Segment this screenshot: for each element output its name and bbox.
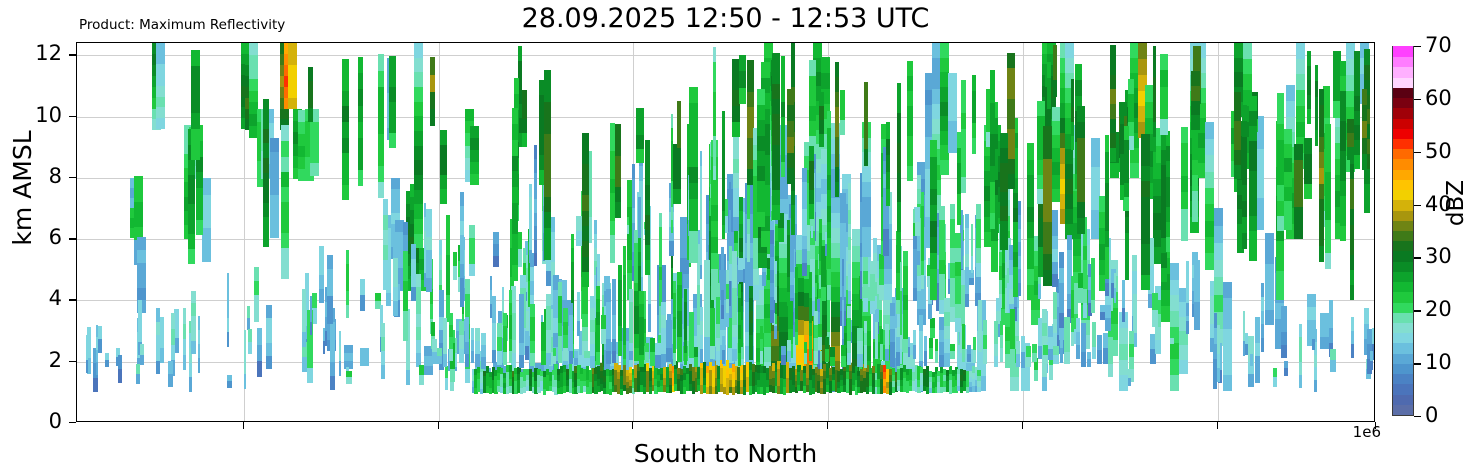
reflectivity-cell bbox=[733, 158, 739, 173]
reflectivity-cell bbox=[1210, 323, 1215, 337]
reflectivity-cell bbox=[1138, 58, 1147, 74]
reflectivity-cell bbox=[1315, 81, 1318, 97]
reflectivity-cell bbox=[582, 195, 589, 211]
reflectivity-column bbox=[86, 335, 88, 372]
reflectivity-cell bbox=[1325, 172, 1331, 189]
reflectivity-cell bbox=[460, 235, 464, 250]
reflectivity-cell bbox=[990, 70, 995, 86]
reflectivity-cell bbox=[907, 61, 913, 76]
reflectivity-cell bbox=[330, 362, 335, 376]
reflectivity-cell bbox=[1018, 228, 1021, 242]
reflectivity-cell bbox=[1166, 206, 1170, 222]
reflectivity-cell bbox=[700, 165, 702, 180]
y-tick-label: 2 bbox=[49, 350, 62, 371]
reflectivity-cell bbox=[1354, 110, 1359, 125]
reflectivity-cell bbox=[512, 233, 517, 249]
reflectivity-cell bbox=[346, 263, 349, 277]
reflectivity-column bbox=[1340, 61, 1346, 241]
reflectivity-column bbox=[455, 338, 458, 367]
reflectivity-cell bbox=[1319, 199, 1324, 215]
reflectivity-cell bbox=[819, 106, 824, 120]
reflectivity-cell bbox=[971, 240, 973, 256]
reflectivity-cell bbox=[1223, 328, 1232, 344]
reflectivity-cell bbox=[183, 308, 187, 324]
reflectivity-cell bbox=[648, 317, 652, 331]
reflectivity-cell bbox=[795, 319, 798, 332]
reflectivity-cell bbox=[414, 72, 423, 87]
reflectivity-cell bbox=[645, 140, 650, 155]
reflectivity-cell bbox=[393, 301, 397, 316]
reflectivity-cell bbox=[770, 270, 775, 284]
reflectivity-cell bbox=[1053, 333, 1057, 347]
reflectivity-cell bbox=[302, 332, 306, 347]
reflectivity-cell bbox=[864, 116, 868, 133]
reflectivity-cell bbox=[1286, 85, 1295, 101]
reflectivity-cell bbox=[700, 208, 702, 223]
reflectivity-cell bbox=[919, 346, 922, 362]
reflectivity-cell bbox=[459, 349, 465, 363]
reflectivity-cell bbox=[700, 222, 702, 237]
reflectivity-cell bbox=[1108, 337, 1113, 350]
reflectivity-cell bbox=[244, 374, 246, 389]
reflectivity-cell bbox=[1007, 53, 1016, 69]
reflectivity-column bbox=[787, 89, 793, 184]
reflectivity-cell bbox=[636, 122, 644, 136]
reflectivity-cell bbox=[1277, 185, 1284, 201]
reflectivity-cell bbox=[481, 333, 486, 345]
reflectivity-column bbox=[1265, 233, 1274, 325]
reflectivity-cell bbox=[1105, 151, 1109, 167]
reflectivity-cell bbox=[254, 281, 259, 295]
reflectivity-cell bbox=[414, 130, 423, 145]
reflectivity-cell bbox=[977, 370, 980, 376]
reflectivity-cell bbox=[1249, 140, 1257, 156]
reflectivity-cell bbox=[1186, 275, 1189, 289]
page-title: 28.09.2025 12:50 - 12:53 UTC bbox=[76, 2, 1375, 36]
reflectivity-cell bbox=[1354, 125, 1359, 140]
reflectivity-cell bbox=[819, 233, 822, 247]
reflectivity-cell bbox=[787, 120, 793, 136]
reflectivity-cell bbox=[1255, 356, 1260, 369]
reflectivity-cell bbox=[863, 298, 868, 312]
reflectivity-cell bbox=[389, 71, 397, 87]
reflectivity-cell bbox=[1249, 126, 1257, 142]
reflectivity-cell bbox=[118, 369, 122, 383]
reflectivity-cell bbox=[778, 228, 784, 243]
reflectivity-cell bbox=[897, 216, 900, 232]
reflectivity-cell bbox=[733, 202, 739, 217]
reflectivity-cell bbox=[772, 98, 780, 114]
reflectivity-cell bbox=[700, 151, 702, 166]
reflectivity-cell bbox=[1284, 368, 1288, 376]
reflectivity-cell bbox=[913, 249, 917, 262]
reflectivity-column bbox=[990, 71, 995, 229]
reflectivity-cell bbox=[835, 77, 839, 93]
reflectivity-cell bbox=[1018, 282, 1021, 296]
reflectivity-cell bbox=[288, 54, 297, 65]
reflectivity-column bbox=[818, 324, 822, 350]
reflectivity-cell bbox=[939, 260, 945, 274]
reflectivity-cell bbox=[930, 220, 937, 237]
reflectivity-cell bbox=[465, 368, 470, 383]
reflectivity-cell bbox=[835, 182, 839, 198]
reflectivity-cell bbox=[645, 185, 650, 200]
reflectivity-cell bbox=[582, 133, 589, 149]
reflectivity-cell bbox=[726, 299, 729, 314]
reflectivity-column bbox=[870, 261, 875, 314]
reflectivity-cell bbox=[534, 253, 537, 267]
reflectivity-cell bbox=[835, 152, 839, 168]
reflectivity-cell bbox=[437, 348, 442, 356]
reflectivity-cell bbox=[673, 188, 681, 203]
reflectivity-cell bbox=[787, 277, 791, 292]
reflectivity-cell bbox=[689, 328, 694, 343]
reflectivity-cell bbox=[1249, 200, 1257, 216]
reflectivity-cell bbox=[976, 233, 981, 248]
reflectivity-cell bbox=[1160, 118, 1168, 134]
reflectivity-cell bbox=[1284, 201, 1291, 216]
reflectivity-cell bbox=[1166, 236, 1170, 252]
reflectivity-cell bbox=[138, 314, 143, 328]
reflectivity-cell bbox=[1053, 319, 1057, 333]
reflectivity-cell bbox=[1205, 220, 1214, 237]
reflectivity-cell bbox=[383, 199, 387, 214]
reflectivity-column bbox=[227, 375, 232, 388]
reflectivity-cell bbox=[791, 72, 795, 88]
reflectivity-cell bbox=[729, 223, 731, 237]
reflectivity-cell bbox=[827, 111, 831, 127]
reflectivity-cell bbox=[502, 300, 504, 313]
reflectivity-column bbox=[907, 61, 913, 181]
reflectivity-cell bbox=[627, 273, 633, 287]
reflectivity-cell bbox=[907, 165, 913, 180]
reflectivity-cell bbox=[907, 76, 913, 91]
y-tick-label: 10 bbox=[35, 105, 62, 126]
reflectivity-cell bbox=[1153, 46, 1156, 62]
reflectivity-cell bbox=[403, 311, 408, 326]
reflectivity-cell bbox=[1364, 64, 1370, 79]
reflectivity-cell bbox=[955, 318, 960, 332]
reflectivity-cell bbox=[597, 267, 600, 281]
reflectivity-cell bbox=[327, 296, 333, 310]
reflectivity-cell bbox=[307, 368, 313, 383]
reflectivity-cell bbox=[1125, 248, 1129, 264]
reflectivity-cell bbox=[835, 167, 839, 183]
reflectivity-cell bbox=[1110, 89, 1116, 104]
reflectivity-cell bbox=[930, 268, 937, 285]
reflectivity-cell bbox=[1242, 217, 1247, 234]
reflectivity-column bbox=[809, 147, 813, 219]
reflectivity-cell bbox=[449, 325, 453, 337]
reflectivity-cell bbox=[266, 330, 272, 343]
reflectivity-cell bbox=[939, 247, 945, 261]
reflectivity-cell bbox=[791, 190, 795, 206]
reflectivity-cell bbox=[188, 159, 195, 174]
reflectivity-cell bbox=[860, 271, 862, 285]
reflectivity-cell bbox=[1105, 304, 1111, 318]
reflectivity-cell bbox=[1043, 158, 1051, 175]
reflectivity-cell bbox=[1170, 359, 1179, 375]
reflectivity-cell bbox=[534, 186, 537, 200]
reflectivity-cell bbox=[1105, 215, 1109, 231]
reflectivity-cell bbox=[772, 205, 780, 221]
reflectivity-cell bbox=[1091, 299, 1094, 313]
reflectivity-cell bbox=[453, 266, 457, 280]
reflectivity-cell bbox=[534, 226, 537, 240]
reflectivity-cell bbox=[393, 258, 397, 273]
reflectivity-cell bbox=[1347, 119, 1353, 133]
reflectivity-cell bbox=[1193, 46, 1201, 61]
reflectivity-cell bbox=[770, 244, 775, 258]
reflectivity-cell bbox=[1047, 62, 1051, 78]
reflectivity-cell bbox=[1120, 124, 1123, 140]
reflectivity-cell bbox=[1013, 207, 1017, 223]
reflectivity-cell bbox=[990, 134, 995, 150]
reflectivity-column bbox=[281, 126, 289, 279]
reflectivity-cell bbox=[795, 267, 798, 280]
reflectivity-cell bbox=[827, 205, 831, 221]
reflectivity-cell bbox=[976, 248, 981, 263]
reflectivity-cell bbox=[638, 197, 641, 212]
reflectivity-cell bbox=[416, 300, 421, 314]
reflectivity-cell bbox=[1299, 324, 1302, 337]
reflectivity-cell bbox=[738, 258, 743, 270]
reflectivity-cell bbox=[426, 250, 431, 264]
reflectivity-cell bbox=[432, 352, 437, 365]
reflectivity-cell bbox=[512, 171, 517, 187]
reflectivity-cell bbox=[1320, 337, 1329, 349]
reflectivity-column bbox=[645, 140, 650, 274]
reflectivity-cell bbox=[263, 232, 269, 247]
reflectivity-cell bbox=[202, 228, 211, 245]
reflectivity-cell bbox=[795, 306, 798, 319]
reflectivity-column bbox=[948, 74, 957, 154]
reflectivity-cell bbox=[1170, 332, 1174, 338]
reflectivity-cell bbox=[1319, 120, 1324, 136]
reflectivity-cell bbox=[582, 256, 589, 272]
reflectivity-cell bbox=[1170, 279, 1179, 295]
reflectivity-cell bbox=[1214, 225, 1223, 243]
reflectivity-cell bbox=[615, 171, 622, 187]
reflectivity-cell bbox=[1071, 290, 1074, 304]
reflectivity-cell bbox=[105, 360, 108, 367]
reflectivity-cell bbox=[512, 249, 517, 265]
reflectivity-cell bbox=[1120, 108, 1123, 124]
reflectivity-cell bbox=[897, 246, 900, 262]
reflectivity-cell bbox=[732, 106, 740, 122]
reflectivity-cell bbox=[859, 304, 862, 318]
reflectivity-column bbox=[636, 108, 644, 162]
reflectivity-column bbox=[1170, 264, 1179, 391]
y-tick-mark bbox=[69, 422, 76, 423]
reflectivity-column bbox=[1249, 96, 1257, 260]
reflectivity-cell bbox=[465, 279, 470, 294]
reflectivity-cell bbox=[310, 309, 312, 322]
reflectivity-column bbox=[443, 318, 447, 367]
reflectivity-cell bbox=[840, 105, 845, 120]
reflectivity-cell bbox=[948, 279, 950, 294]
reflectivity-cell bbox=[733, 173, 739, 188]
reflectivity-cell bbox=[1052, 261, 1058, 274]
reflectivity-cell bbox=[1315, 65, 1318, 81]
reflectivity-cell bbox=[713, 76, 716, 91]
reflectivity-cell bbox=[835, 107, 839, 123]
reflectivity-cell bbox=[247, 306, 250, 318]
reflectivity-cell bbox=[1027, 143, 1034, 159]
reflectivity-cell bbox=[1319, 89, 1324, 105]
reflectivity-cell bbox=[443, 342, 447, 354]
reflectivity-cell bbox=[414, 189, 423, 204]
reflectivity-cell bbox=[406, 339, 409, 354]
reflectivity-cell bbox=[358, 105, 363, 122]
reflectivity-cell bbox=[378, 150, 384, 166]
reflectivity-cell bbox=[1042, 363, 1047, 377]
reflectivity-cell bbox=[761, 62, 769, 78]
reflectivity-cell bbox=[249, 55, 258, 67]
reflectivity-cell bbox=[848, 263, 850, 277]
reflectivity-cell bbox=[831, 271, 840, 287]
reflectivity-cell bbox=[1223, 313, 1232, 329]
reflectivity-cell bbox=[1277, 93, 1284, 109]
reflectivity-column bbox=[848, 184, 850, 304]
reflectivity-cell bbox=[358, 154, 363, 171]
reflectivity-cell bbox=[470, 126, 479, 138]
reflectivity-cell bbox=[645, 229, 650, 244]
reflectivity-cell bbox=[1314, 379, 1317, 392]
reflectivity-cell bbox=[1265, 294, 1274, 310]
reflectivity-cell bbox=[772, 144, 780, 160]
reflectivity-cell bbox=[677, 148, 681, 164]
reflectivity-cell bbox=[1141, 259, 1150, 275]
reflectivity-cell bbox=[263, 113, 269, 128]
reflectivity-cell bbox=[1294, 175, 1303, 191]
reflectivity-cell bbox=[972, 138, 976, 154]
reflectivity-column bbox=[781, 57, 785, 178]
reflectivity-cell bbox=[520, 275, 526, 289]
reflectivity-cell bbox=[848, 223, 850, 237]
reflectivity-cell bbox=[722, 196, 725, 211]
reflectivity-cell bbox=[821, 57, 830, 73]
reflectivity-cell bbox=[842, 259, 845, 273]
reflectivity-cell bbox=[414, 42, 423, 57]
reflectivity-column bbox=[955, 234, 960, 333]
reflectivity-cell bbox=[860, 187, 862, 201]
reflectivity-cell bbox=[632, 193, 635, 208]
reflectivity-cell bbox=[393, 272, 397, 287]
reflectivity-cell bbox=[93, 377, 97, 392]
reflectivity-cell bbox=[629, 289, 632, 302]
reflectivity-cell bbox=[1071, 332, 1074, 346]
reflectivity-column bbox=[1077, 106, 1085, 234]
reflectivity-cell bbox=[700, 250, 702, 265]
reflectivity-cell bbox=[1312, 339, 1315, 350]
reflectivity-cell bbox=[1243, 43, 1252, 59]
reflectivity-cell bbox=[360, 348, 369, 357]
reflectivity-cell bbox=[683, 260, 688, 274]
reflectivity-cell bbox=[460, 249, 464, 264]
reflectivity-cell bbox=[1179, 359, 1188, 374]
reflectivity-cell bbox=[1255, 369, 1260, 382]
reflectivity-cell bbox=[1122, 280, 1125, 294]
reflectivity-cell bbox=[721, 304, 724, 319]
reflectivity-column bbox=[1370, 351, 1373, 371]
reflectivity-column bbox=[381, 323, 385, 379]
reflectivity-column bbox=[722, 112, 725, 240]
reflectivity-cell bbox=[1234, 150, 1242, 165]
reflectivity-cell bbox=[677, 163, 681, 179]
reflectivity-cell bbox=[1346, 59, 1355, 76]
reflectivity-column bbox=[183, 308, 187, 371]
reflectivity-cell bbox=[950, 204, 956, 219]
reflectivity-cell bbox=[772, 53, 780, 69]
reflectivity-cell bbox=[903, 338, 908, 353]
reflectivity-cell bbox=[411, 273, 415, 287]
reflectivity-cell bbox=[1053, 306, 1057, 320]
reflectivity-cell bbox=[381, 323, 385, 337]
reflectivity-cell bbox=[1294, 191, 1303, 207]
reflectivity-cell bbox=[1007, 158, 1016, 174]
reflectivity-column bbox=[358, 57, 363, 186]
reflectivity-cell bbox=[439, 240, 442, 255]
reflectivity-cell bbox=[414, 116, 423, 131]
reflectivity-cell bbox=[842, 326, 845, 340]
reflectivity-cell bbox=[842, 273, 845, 287]
reflectivity-cell bbox=[960, 254, 962, 269]
reflectivity-cell bbox=[827, 158, 831, 174]
plot-area[interactable] bbox=[76, 42, 1375, 422]
reflectivity-cell bbox=[930, 204, 937, 221]
reflectivity-cell bbox=[1205, 171, 1214, 188]
reflectivity-cell bbox=[781, 162, 785, 178]
reflectivity-cell bbox=[1114, 288, 1116, 304]
reflectivity-cell bbox=[426, 223, 431, 237]
reflectivity-cell bbox=[1223, 344, 1232, 360]
reflectivity-cell bbox=[809, 190, 813, 205]
reflectivity-column bbox=[627, 217, 629, 234]
reflectivity-cell bbox=[809, 75, 816, 90]
reflectivity-cell bbox=[900, 290, 902, 305]
reflectivity-cell bbox=[648, 289, 652, 303]
reflectivity-cell bbox=[772, 83, 780, 99]
reflectivity-cell bbox=[840, 90, 845, 105]
reflectivity-cell bbox=[414, 174, 423, 189]
reflectivity-column bbox=[582, 134, 589, 288]
reflectivity-cell bbox=[897, 187, 900, 203]
reflectivity-cell bbox=[445, 378, 449, 390]
reflectivity-cell bbox=[996, 298, 1000, 311]
reflectivity-cell bbox=[827, 306, 829, 319]
reflectivity-cell bbox=[689, 167, 698, 184]
reflectivity-column bbox=[1153, 46, 1156, 166]
reflectivity-column bbox=[930, 318, 935, 338]
reflectivity-cell bbox=[976, 218, 981, 233]
reflectivity-cell bbox=[1000, 177, 1007, 192]
reflectivity-cell bbox=[1284, 143, 1291, 158]
reflectivity-cell bbox=[419, 375, 424, 385]
reflectivity-cell bbox=[426, 278, 431, 292]
reflectivity-cell bbox=[860, 215, 862, 229]
reflectivity-cell bbox=[308, 94, 313, 108]
reflectivity-cell bbox=[529, 223, 532, 236]
reflectivity-cell bbox=[469, 251, 474, 264]
reflectivity-cell bbox=[1153, 91, 1156, 107]
reflectivity-cell bbox=[1340, 121, 1346, 137]
reflectivity-cell bbox=[831, 227, 840, 243]
reflectivity-column bbox=[319, 247, 324, 303]
reflectivity-column bbox=[302, 289, 306, 346]
reflectivity-cell bbox=[1265, 263, 1274, 279]
reflectivity-cell bbox=[645, 215, 650, 230]
